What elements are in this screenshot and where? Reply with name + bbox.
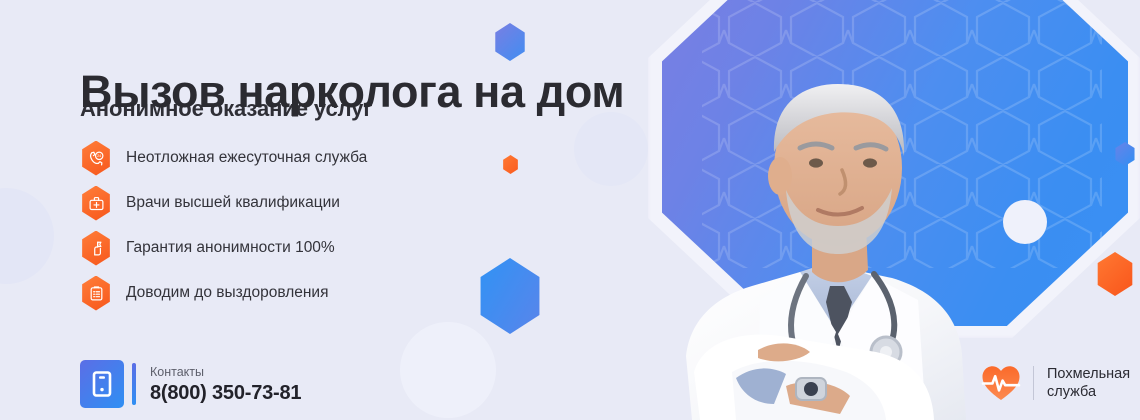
clipboard-checklist-icon (80, 276, 112, 311)
contacts-divider-bar (132, 363, 136, 405)
heart-pulse-icon (980, 362, 1022, 404)
feature-label: Неотложная ежесуточная служба (126, 149, 367, 167)
feature-label: Врачи высшей квалификации (126, 194, 340, 212)
brand-name-line2: служба (1047, 384, 1096, 400)
feature-item: Врачи высшей квалификации (80, 185, 367, 221)
brand-divider (1033, 366, 1034, 400)
content-column: Вызов нарколога на дом Анонимное оказани… (0, 0, 640, 420)
hexagon-orange-large (1095, 252, 1135, 296)
medical-bag-icon (80, 186, 112, 221)
promo-banner: Вызов нарколога на дом Анонимное оказани… (0, 0, 1140, 420)
feature-item: Доводим до выздоровления (80, 275, 367, 311)
contacts-block[interactable]: Контакты 8(800) 350-73-81 (80, 360, 301, 408)
feature-label: Доводим до выздоровления (126, 284, 328, 302)
finger-ribbon-icon (80, 231, 112, 266)
brand-name-line1: Похмельная (1047, 366, 1130, 382)
contacts-text: Контакты 8(800) 350-73-81 (150, 363, 301, 405)
feature-label: Гарантия анонимности 100% (126, 239, 335, 257)
contacts-label: Контакты (150, 365, 204, 379)
brand-name: Похмельная служба (1047, 365, 1130, 401)
hexagon-blue-tiny (1114, 142, 1136, 166)
feature-item: Гарантия анонимности 100% (80, 230, 367, 266)
brand-logo[interactable]: Похмельная служба (980, 362, 1130, 404)
contacts-phone-number[interactable]: 8(800) 350-73-81 (150, 381, 301, 405)
page-title: Вызов нарколога на дом (80, 66, 624, 118)
svg-text:24: 24 (97, 154, 102, 158)
phone-24h-icon: 24 (80, 141, 112, 176)
doctor-photo (640, 0, 1020, 420)
mobile-phone-icon (80, 360, 124, 408)
features-list: 24 Неотложная ежесуточная служба Врачи в… (80, 140, 367, 320)
feature-item: 24 Неотложная ежесуточная служба (80, 140, 367, 176)
